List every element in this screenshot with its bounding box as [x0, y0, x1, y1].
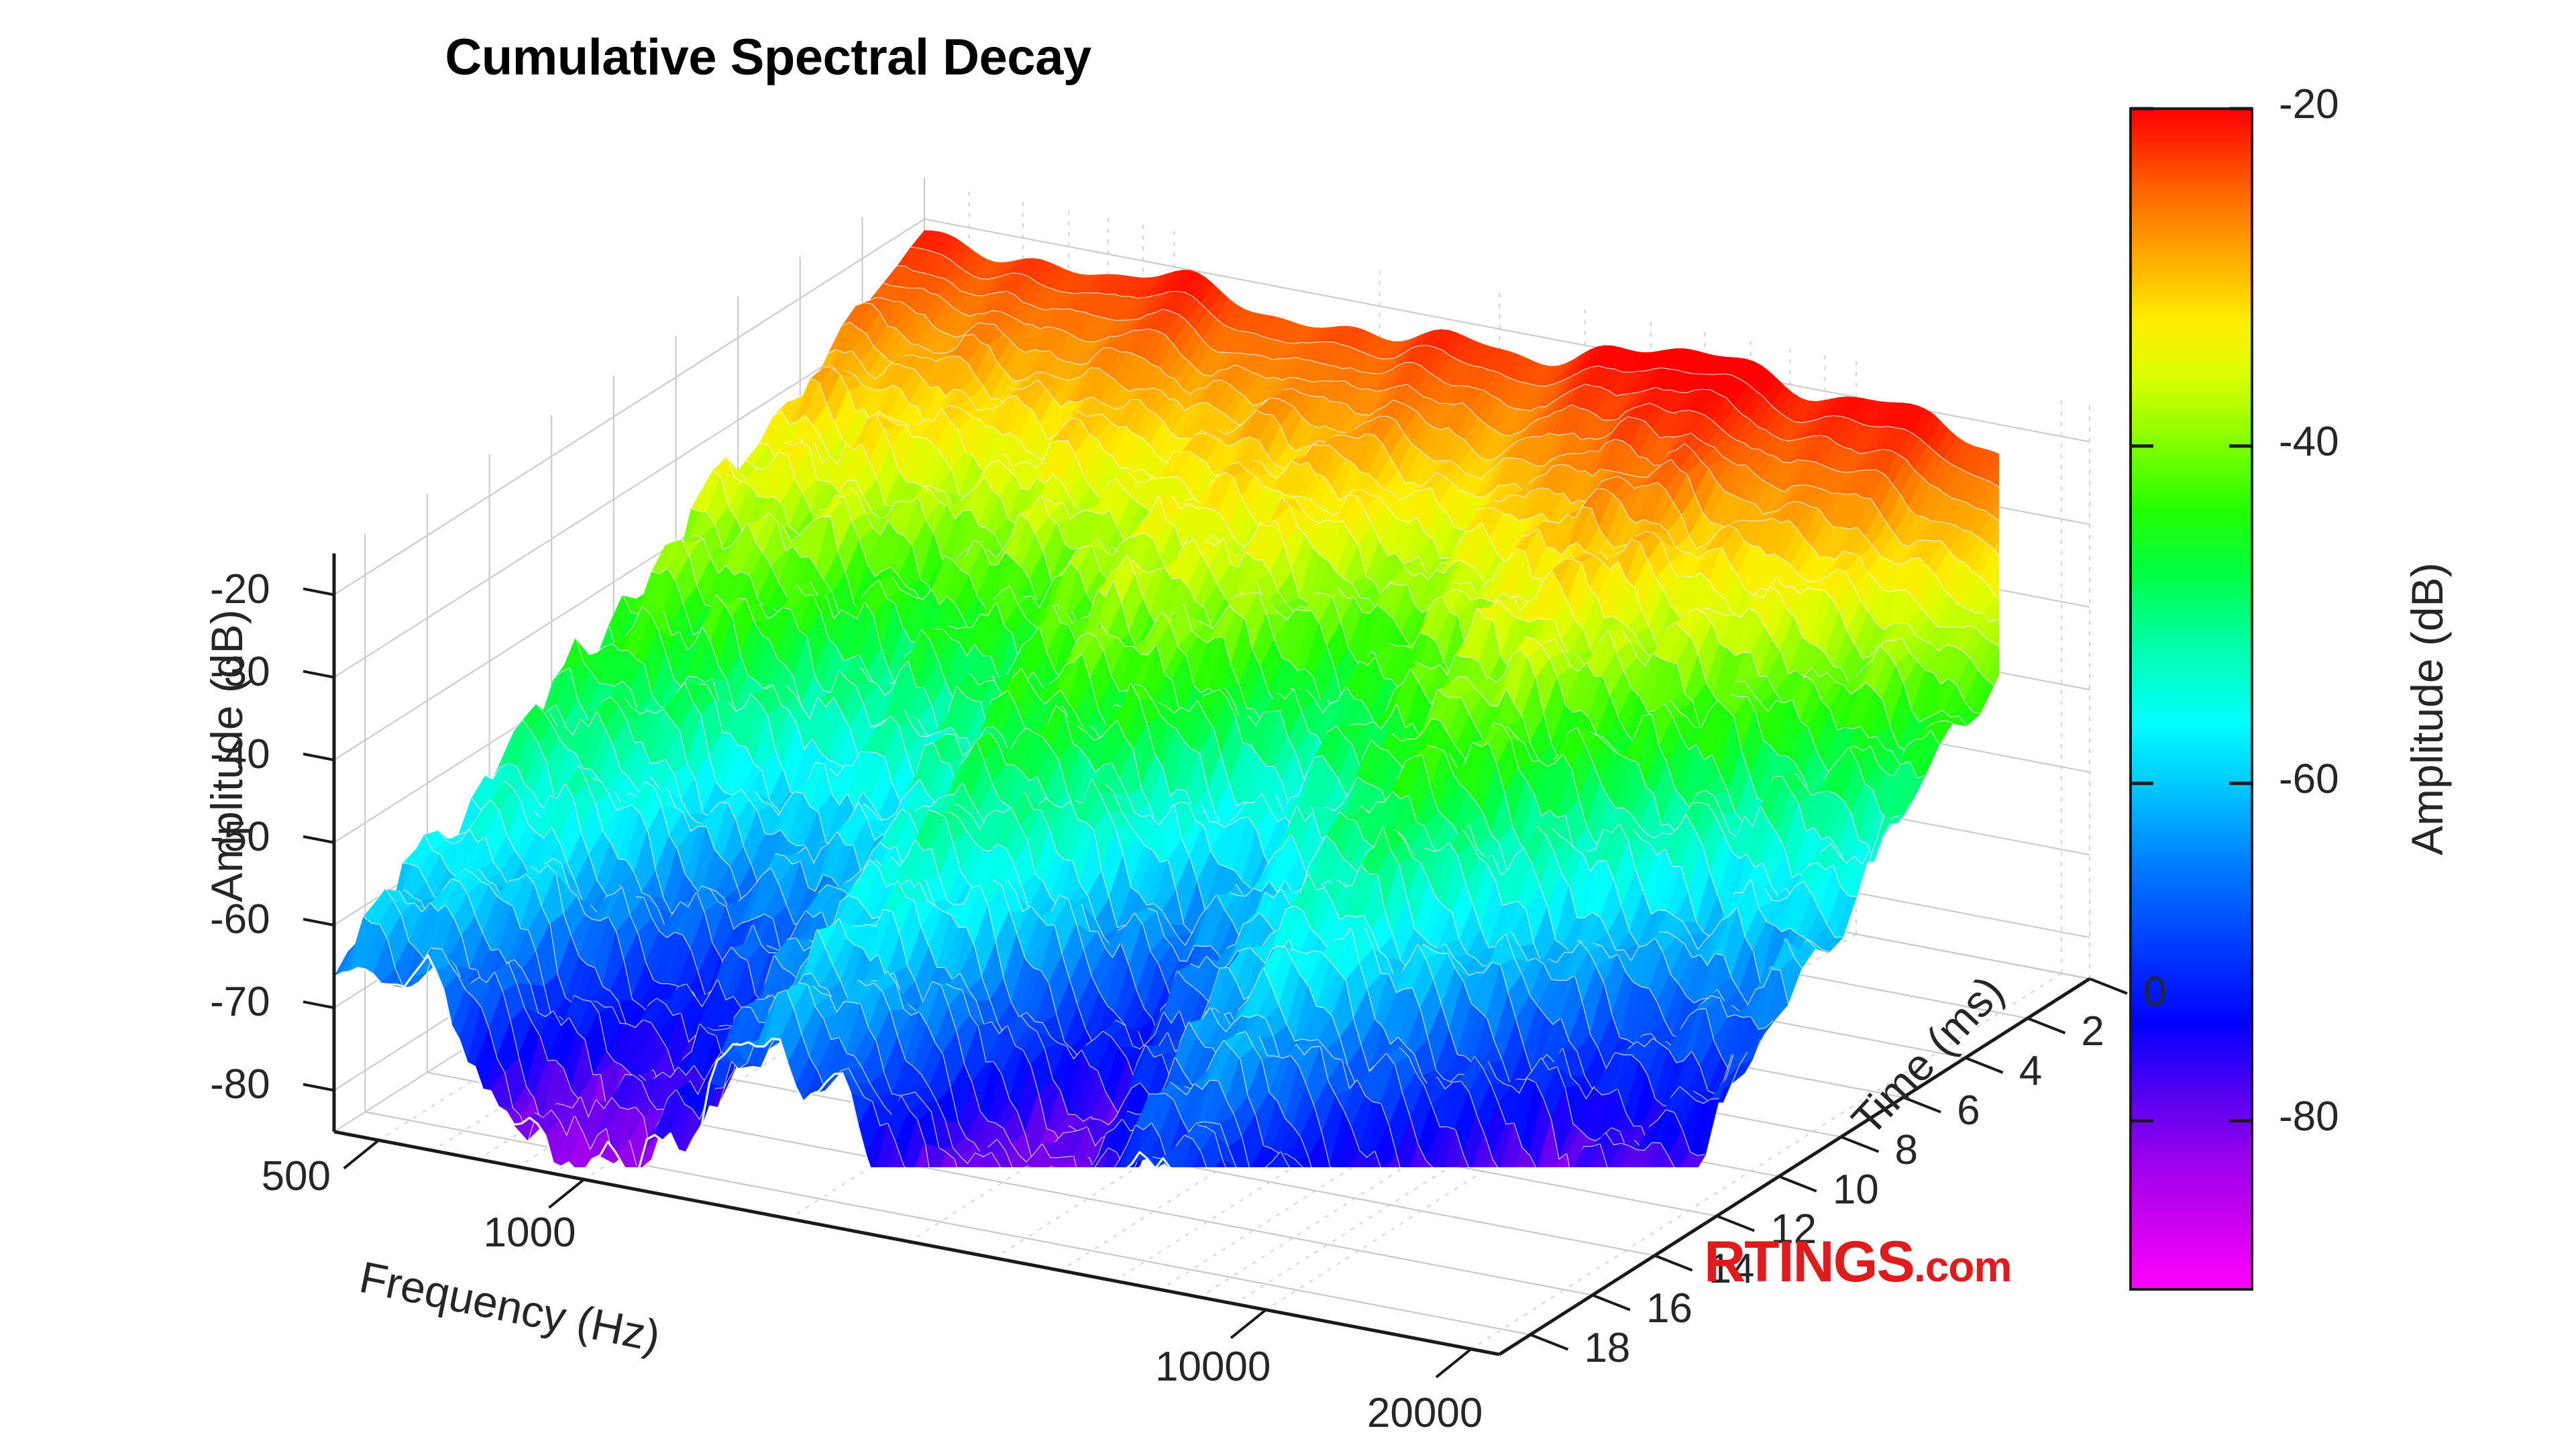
colorbar-tick--60: -60	[2279, 755, 2339, 803]
x-tick-20000: 20000	[1367, 1389, 1483, 1437]
colorbar-gradient	[2131, 109, 2252, 1289]
y-tick-4: 4	[2019, 1047, 2042, 1095]
z-tick--80: -80	[210, 1061, 270, 1108]
y-tick-8: 8	[1894, 1126, 1917, 1174]
y-tick-18: 18	[1584, 1324, 1630, 1372]
colorbar-tick--40: -40	[2279, 418, 2339, 466]
z-tick--20: -20	[210, 566, 270, 613]
y-tick-0: 0	[2143, 968, 2166, 1016]
colorbar-label: Amplitude (dB)	[2402, 562, 2453, 855]
rtings-tld: .com	[1914, 1242, 2011, 1291]
z-tick--70: -70	[210, 978, 270, 1026]
y-tick-2: 2	[2081, 1008, 2104, 1055]
z-tick--60: -60	[210, 896, 270, 943]
plot-canvas	[0, 0, 2576, 1449]
y-tick-6: 6	[1957, 1087, 1980, 1134]
z-axis-label: Amplitude (dB)	[201, 609, 252, 902]
rtings-wordmark: RTINGS	[1704, 1230, 1914, 1294]
x-tick-500: 500	[262, 1152, 331, 1200]
x-tick-10000: 10000	[1155, 1343, 1271, 1391]
y-tick-10: 10	[1833, 1166, 1879, 1214]
x-tick-1000: 1000	[484, 1209, 576, 1256]
y-tick-16: 16	[1646, 1285, 1693, 1332]
csd-chart-figure: Cumulative Spectral Decay	[0, 0, 2576, 1449]
colorbar-tick--80: -80	[2279, 1093, 2339, 1140]
colorbar-tick--20: -20	[2279, 80, 2339, 128]
rtings-logo: RTINGS.com	[1704, 1233, 2011, 1291]
